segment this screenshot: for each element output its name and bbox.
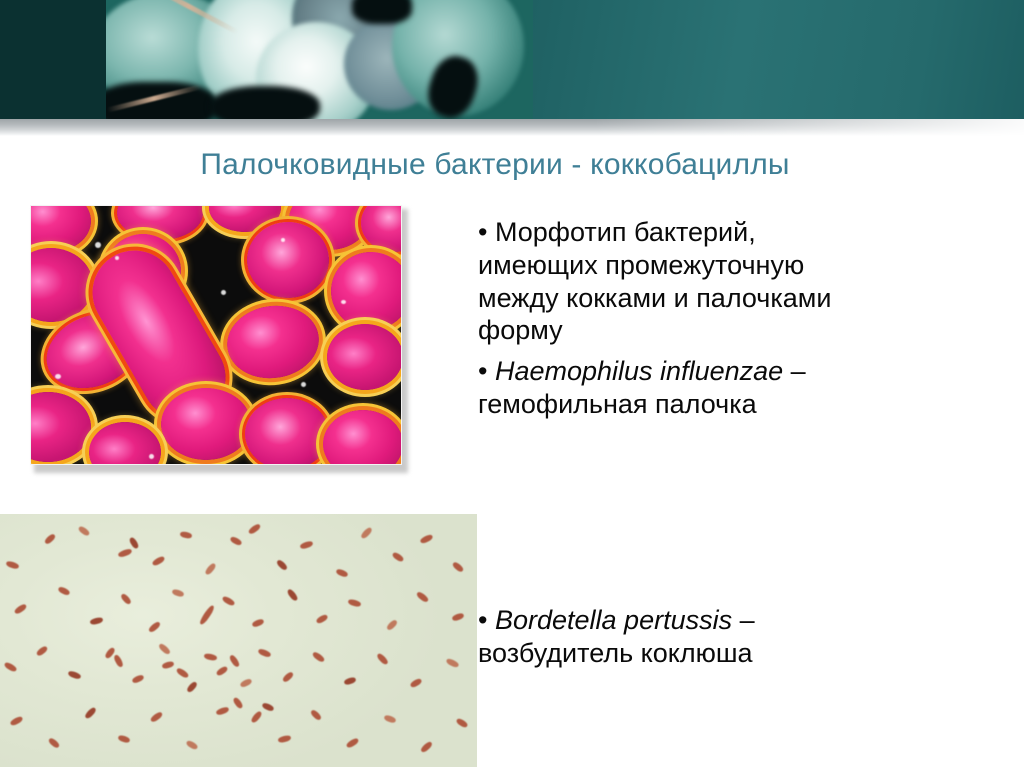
bullet-marker: • xyxy=(478,356,487,386)
bullet-2-line-2: гемофильная палочка xyxy=(478,389,757,419)
bullet-3-line-2: возбудитель коклюша xyxy=(478,638,753,668)
bordetella-pertussis-gram-stain xyxy=(0,514,477,767)
list-item-bordetella: • Bordetella pertussis – возбудитель кок… xyxy=(478,604,1008,670)
content-bullet-list: • Морфотип бактерий, имеющих промежуточн… xyxy=(478,216,1008,423)
list-item: • Haemophilus influenzae – гемофильная п… xyxy=(478,355,1008,421)
list-item: • Морфотип бактерий, имеющих промежуточн… xyxy=(478,216,1008,347)
species-name-bordetella: Bordetella pertussis xyxy=(495,605,732,635)
species-name-haemophilus: Haemophilus influenzae xyxy=(495,356,783,386)
header-band xyxy=(0,0,1024,119)
bullet-marker: • xyxy=(478,605,487,635)
sem-micrograph-bacteria-teal xyxy=(106,0,533,119)
bullet-3-dash: – xyxy=(732,605,755,635)
bullet-1-line-3: между кокками и палочками xyxy=(478,283,831,313)
bullet-1-line-4: форму xyxy=(478,315,563,345)
header-band-accent xyxy=(533,0,1024,119)
coccobacilli-micrograph-pink-canvas xyxy=(30,205,402,465)
bullet-1-line-2: имеющих промежуточную xyxy=(478,250,804,280)
bullet-1-line-1: • Морфотип бактерий, xyxy=(478,217,756,247)
page-title: Палочковидные бактерии - коккобациллы xyxy=(0,148,990,182)
bullet-2-dash: – xyxy=(783,356,806,386)
header-divider-strip xyxy=(0,119,1024,136)
header-band-left-panel xyxy=(0,0,106,119)
coccobacilli-micrograph-pink xyxy=(30,205,408,473)
